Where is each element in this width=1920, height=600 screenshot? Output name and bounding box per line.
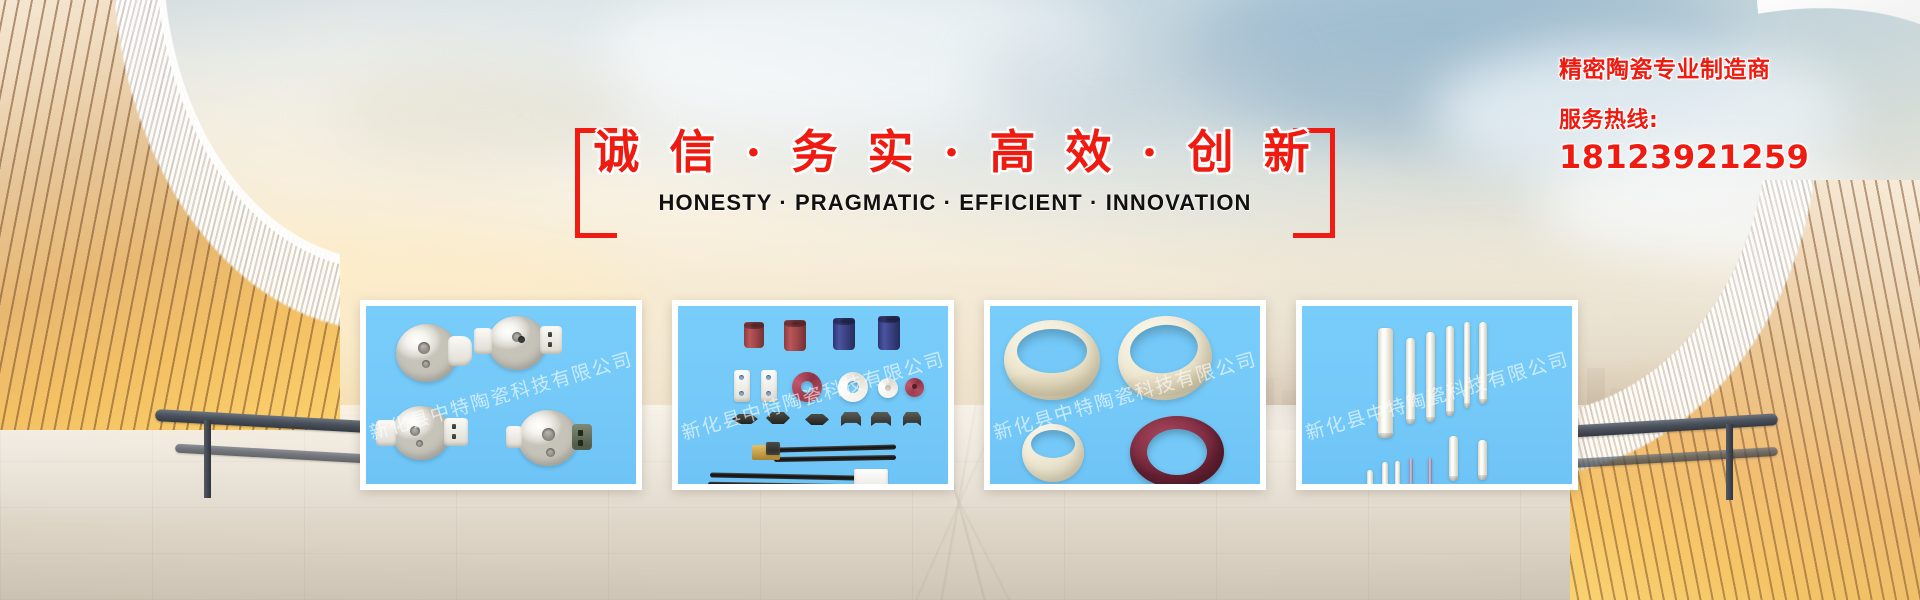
lamp-holder-4 [518,410,578,466]
ceramic-tube-1 [1449,436,1458,481]
small-rod-1 [1367,470,1373,484]
ivory-ring-large-2 [1113,311,1217,406]
ceramic-tube-2 [1478,440,1487,480]
product-panel-bushings-cables[interactable]: 新化县中特陶瓷科技有限公司 [672,300,954,490]
ceramic-rod-6 [1479,322,1487,404]
blue-bushing-large [878,316,900,350]
lens-clip-2 [766,412,790,424]
lamp-holder-3 [392,406,450,460]
ceramic-plate-1 [734,370,750,402]
cable-assembly-2-lead-b [708,482,858,484]
product-panel-ceramic-lamp-holders[interactable]: 新化县中特陶瓷科技有限公司 [360,300,642,490]
cable-assembly-1-housing [766,442,780,455]
lamp-holder-2 [488,316,546,370]
ceramic-plate-2 [761,370,777,402]
red-bushing-large [784,320,806,351]
terminal-clip-1 [841,412,861,426]
ivory-ring-small [1022,424,1084,482]
hero-banner: 诚 信 · 务 实 · 高 效 · 创 新 HONESTY · PRAGMATI… [0,0,1920,600]
white-ring [838,372,868,402]
product-panel-ceramic-rings[interactable]: 新化县中特陶瓷科技有限公司 [984,300,1266,490]
small-rod-2 [1382,462,1388,484]
lens-clip-1 [732,414,758,424]
product-panel-ceramic-rods[interactable]: 新化县中特陶瓷科技有限公司 [1296,300,1578,490]
cable-assembly-2-connector [854,469,888,484]
violet-pin-2 [1428,458,1432,484]
product-panel-row: 新化县中特陶瓷科技有限公司 [0,0,1920,600]
lens-clip-3 [805,414,829,425]
white-cap [878,378,898,398]
cable-assembly-2-lead-a [710,472,858,480]
small-rod-3 [1395,461,1400,484]
violet-pin-1 [1409,458,1413,484]
red-bushing-small [744,322,764,348]
ceramic-rod-2 [1406,338,1415,424]
blue-bushing-small [833,318,855,350]
panel-1-stage: 新化县中特陶瓷科技有限公司 [366,306,636,484]
panel-2-stage: 新化县中特陶瓷科技有限公司 [678,306,948,484]
ivory-ring-large-1 [1004,320,1100,400]
panel-3-stage: 新化县中特陶瓷科技有限公司 [990,306,1260,484]
terminal-clip-3 [903,412,921,426]
panel-4-watermark: 新化县中特陶瓷科技有限公司 [1302,344,1572,445]
maroon-ring [792,372,822,402]
ceramic-rod-5 [1464,322,1470,408]
ceramic-rod-3 [1426,332,1435,422]
cable-assembly-1-lead-b [774,455,896,462]
maroon-disc [905,378,924,397]
lamp-holder-1 [396,324,458,382]
ceramic-rod-4 [1446,326,1454,416]
panel-4-stage: 新化县中特陶瓷科技有限公司 [1302,306,1572,484]
cable-assembly-1-lead-a [776,444,896,452]
maroon-ring-large [1130,416,1224,484]
terminal-clip-2 [871,412,891,426]
ceramic-rod-thick [1378,328,1393,438]
